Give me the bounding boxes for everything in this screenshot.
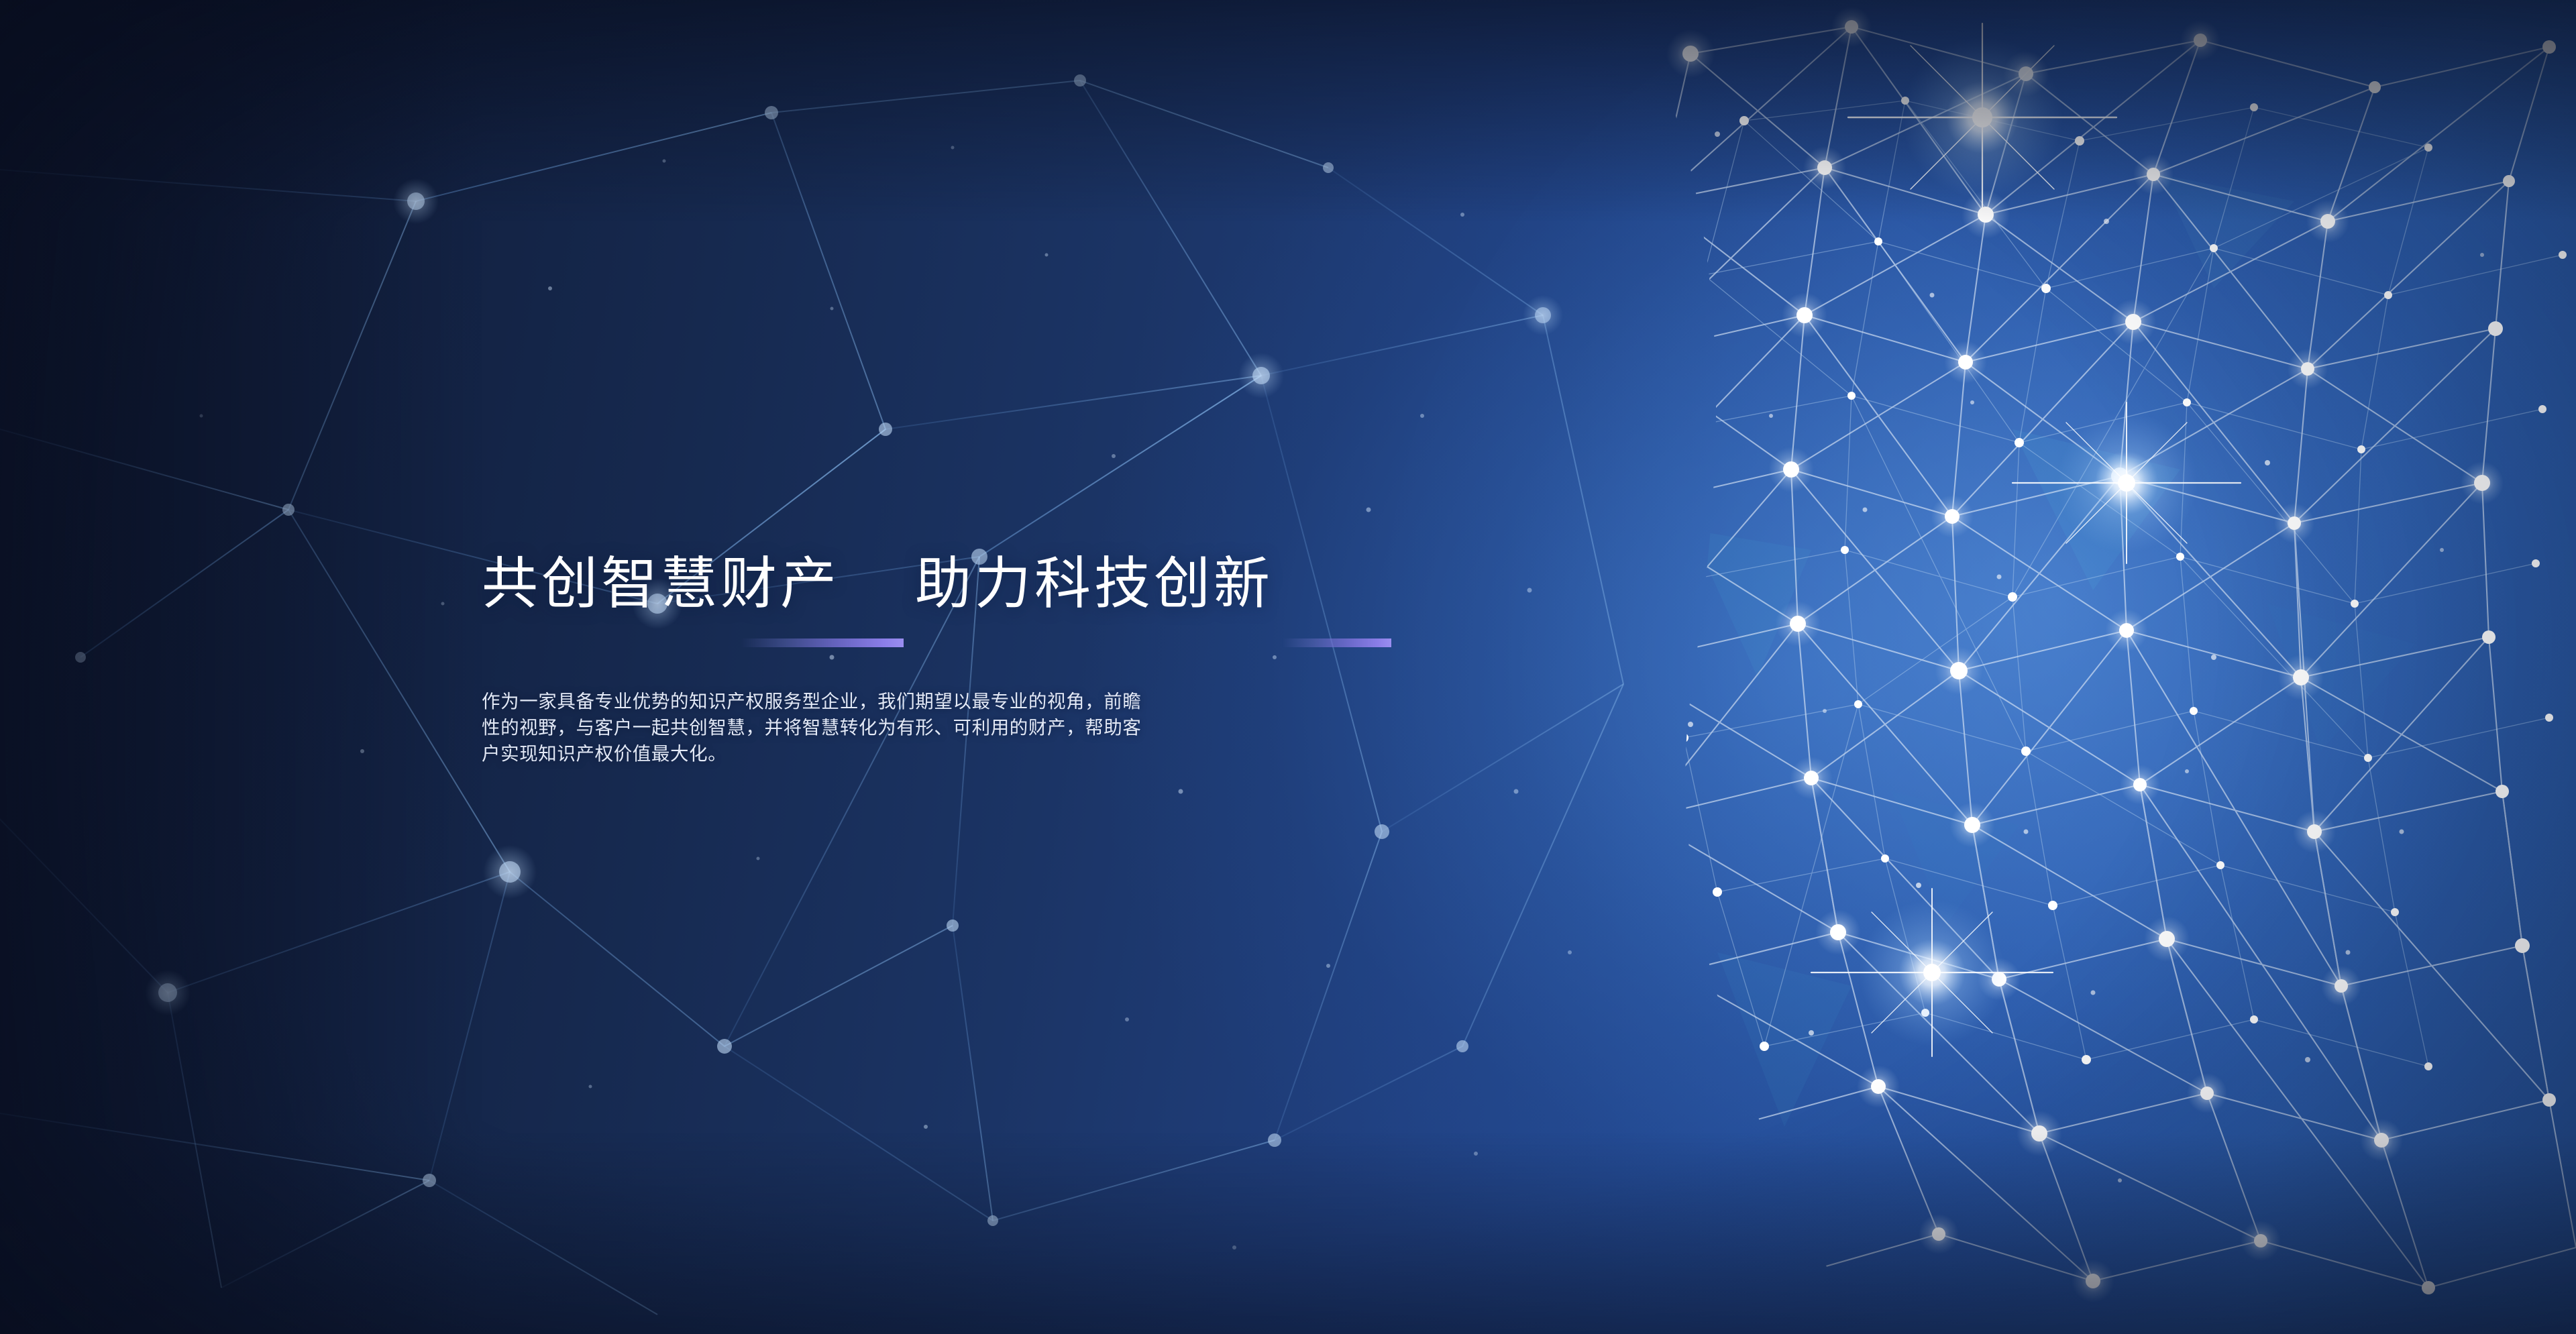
hero-banner: 共创智慧财产助力科技创新 作为一家具备专业优势的知识产权服务型企业，我们期望以最… xyxy=(0,0,2576,1334)
accent-bar-left xyxy=(741,638,904,647)
headline-part-1: 共创智慧财产 xyxy=(482,552,840,615)
accent-bar-left-fill xyxy=(741,638,904,647)
headline-part-2: 助力科技创新 xyxy=(915,552,1273,615)
accent-bar-right-fill xyxy=(1282,638,1391,647)
description-line-1: 作为一家具备专业优势的知识产权服务型企业，我们期望以最专业的视角，前瞻 xyxy=(482,688,1434,714)
left-shade xyxy=(0,0,483,1334)
accent-bar-right xyxy=(1282,638,1391,647)
description-line-3: 户实现知识产权价值最大化。 xyxy=(482,740,1434,767)
hero-headline: 共创智慧财产助力科技创新 xyxy=(482,555,1273,612)
description-line-2: 性的视野，与客户一起共创智慧，并将智慧转化为有形、可利用的财产，帮助客 xyxy=(482,714,1434,740)
hero-description: 作为一家具备专业优势的知识产权服务型企业，我们期望以最专业的视角，前瞻 性的视野… xyxy=(482,688,1434,767)
